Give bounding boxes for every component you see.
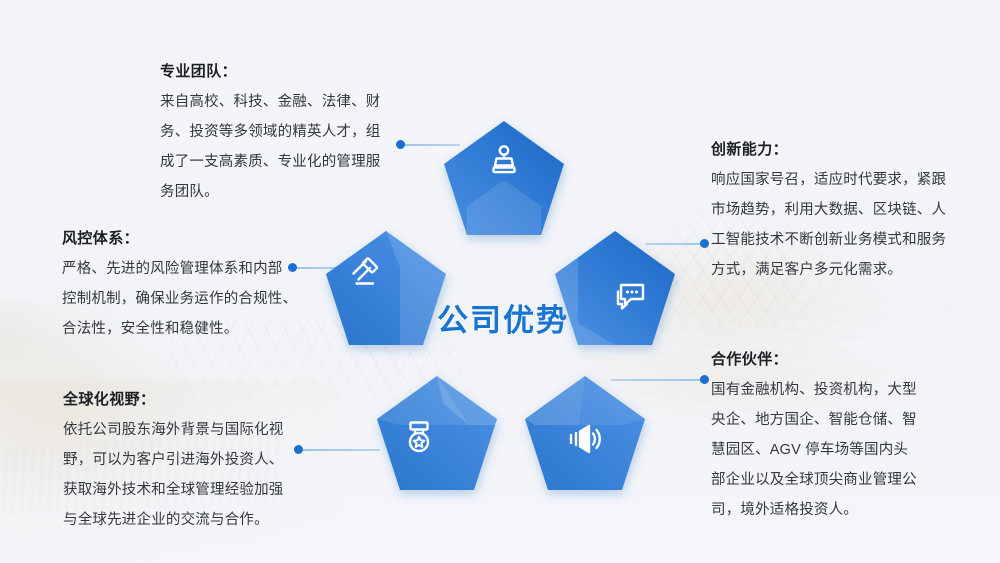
connector-dot-partners xyxy=(700,375,709,384)
body-line: 与全球先进企业的交流与合作。 xyxy=(63,505,303,535)
body-line: 依托公司股东海外背景与国际化视 xyxy=(63,415,303,445)
heading-innovation-capability: 创新能力： xyxy=(711,135,973,165)
body-line: 国有金融机构、投资机构，大型 xyxy=(711,375,945,405)
heading-risk-control-system: 风控体系： xyxy=(62,224,304,254)
heading-professional-team: 专业团队： xyxy=(160,57,406,87)
body-partners: 国有金融机构、投资机构，大型 央企、地方国企、智能仓储、智 慧园区、AGV 停车… xyxy=(711,375,945,525)
body-innovation-capability: 响应国家号召，适应时代要求，紧跟 市场趋势，利用大数据、区块链、人 工智能技术不… xyxy=(711,165,973,285)
body-line: 部企业以及全球顶尖商业管理公 xyxy=(711,465,945,495)
body-line: 司，境外适格投资人。 xyxy=(711,495,945,525)
body-line: 控制机制，确保业务运作的合规性、 xyxy=(62,284,304,314)
text-block-professional-team: 专业团队： 来自高校、科技、金融、法律、财 务、投资等多领域的精英人才，组 成了… xyxy=(160,57,406,207)
pentagon-innovation-capability[interactable] xyxy=(551,228,679,350)
text-block-innovation-capability: 创新能力： 响应国家号召，适应时代要求，紧跟 市场趋势，利用大数据、区块链、人 … xyxy=(711,135,973,285)
body-line: 市场趋势，利用大数据、区块链、人 xyxy=(711,195,973,225)
slide-canvas: 公司优势 专业团队： 来自高校、科技、金融、法律、财 务、投资等多领域的精英人才… xyxy=(0,0,1000,563)
body-line: 务团队。 xyxy=(160,177,406,207)
body-professional-team: 来自高校、科技、金融、法律、财 务、投资等多领域的精英人才，组 成了一支高素质、… xyxy=(160,87,406,207)
body-line: 慧园区、AGV 停车场等国内头 xyxy=(711,435,945,465)
body-risk-control-system: 严格、先进的风险管理体系和内部 控制机制，确保业务运作的合规性、 合法性，安全性… xyxy=(62,254,304,344)
body-line: 务、投资等多领域的精英人才，组 xyxy=(160,117,406,147)
pentagon-risk-control-system[interactable] xyxy=(322,228,450,350)
body-global-vision: 依托公司股东海外背景与国际化视 野，可以为客户引进海外投资人、 获取海外技术和全… xyxy=(63,415,303,535)
body-line: 工智能技术不断创新业务模式和服务 xyxy=(711,225,973,255)
body-line: 合法性，安全性和稳健性。 xyxy=(62,314,304,344)
pentagon-partners[interactable] xyxy=(521,373,649,495)
body-line: 央企、地方国企、智能仓储、智 xyxy=(711,405,945,435)
body-line: 成了一支高素质、专业化的管理服 xyxy=(160,147,406,177)
body-line: 严格、先进的风险管理体系和内部 xyxy=(62,254,304,284)
pentagon-professional-team[interactable] xyxy=(440,118,568,240)
text-block-risk-control-system: 风控体系： 严格、先进的风险管理体系和内部 控制机制，确保业务运作的合规性、 合… xyxy=(62,224,304,344)
connector-line-global-vision xyxy=(300,449,380,451)
connector-dot-innovation xyxy=(700,239,709,248)
page-title: 公司优势 xyxy=(437,295,569,340)
pentagon-global-vision[interactable] xyxy=(373,373,501,495)
body-line: 响应国家号召，适应时代要求，紧跟 xyxy=(711,165,973,195)
body-line: 来自高校、科技、金融、法律、财 xyxy=(160,87,406,117)
body-line: 方式，满足客户多元化需求。 xyxy=(711,255,973,285)
text-block-global-vision: 全球化视野： 依托公司股东海外背景与国际化视 野，可以为客户引进海外投资人、 获… xyxy=(63,385,303,535)
heading-global-vision: 全球化视野： xyxy=(63,385,303,415)
body-line: 野，可以为客户引进海外投资人、 xyxy=(63,445,303,475)
text-block-partners: 合作伙伴： 国有金融机构、投资机构，大型 央企、地方国企、智能仓储、智 慧园区、… xyxy=(711,345,945,525)
body-line: 获取海外技术和全球管理经验加强 xyxy=(63,475,303,505)
heading-partners: 合作伙伴： xyxy=(711,345,945,375)
